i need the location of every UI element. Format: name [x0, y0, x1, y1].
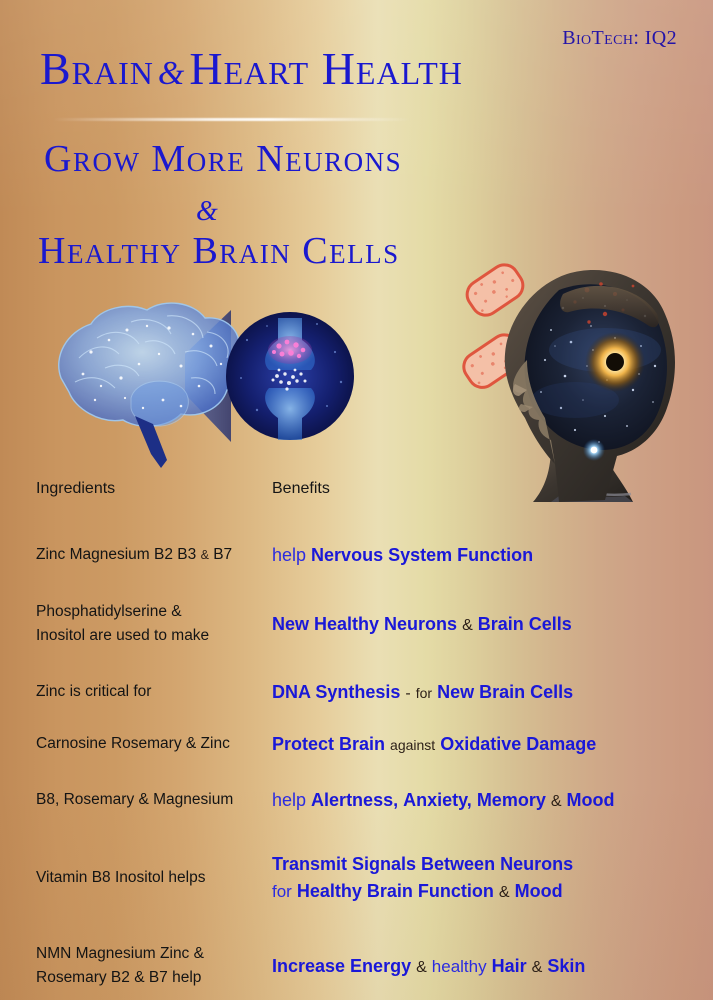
- table-row: NMN Magnesium Zinc & Rosemary B2 & B7 he…: [36, 924, 696, 1000]
- benefit-highlight-4: Mood: [567, 790, 615, 810]
- page-title-part-2: Heart Health: [189, 43, 463, 94]
- benefit-highlight-2: Oxidative Damage: [440, 734, 596, 754]
- table-row: Phosphatidylserine & Inositol are used t…: [36, 584, 696, 664]
- ingredient-cell: Zinc Magnesium B2 B3 & B7: [36, 543, 272, 567]
- page-title: Brain&Heart Health: [40, 46, 463, 92]
- benefit-highlight: New Healthy Neurons: [272, 614, 457, 634]
- benefit-ampersand: &: [416, 959, 427, 976]
- benefit-highlight: Protect Brain: [272, 734, 385, 754]
- table-header: Ingredients Benefits: [36, 480, 696, 526]
- benefit-highlight: DNA Synthesis: [272, 682, 400, 702]
- benefit-line-2: for Healthy Brain Function & Mood: [272, 878, 696, 905]
- ingredient-text-2: Rosemary B2 & B7 help: [36, 966, 272, 990]
- cosmic-head-illustration: [455, 250, 705, 512]
- benefit-connector: help: [272, 545, 306, 565]
- ingredient-text: Zinc Magnesium B2 B3: [36, 546, 196, 563]
- ingredient-cell: Phosphatidylserine & Inositol are used t…: [36, 600, 272, 648]
- benefit-highlight-3: Skin: [547, 956, 585, 976]
- table-row: Zinc is critical for DNA Synthesis - for…: [36, 664, 696, 720]
- benefit-highlight-2: New Brain Cells: [437, 682, 573, 702]
- benefit-cell: Transmit Signals Between Neurons for Hea…: [272, 851, 696, 905]
- ingredient-cell: NMN Magnesium Zinc & Rosemary B2 & B7 he…: [36, 942, 272, 990]
- ampersand: &: [201, 548, 209, 562]
- subtitle-line-2: Healthy Brain Cells: [38, 232, 400, 270]
- benefit-connector: against: [390, 737, 435, 753]
- table-row: Zinc Magnesium B2 B3 & B7 help Nervous S…: [36, 526, 696, 584]
- benefit-cell: New Healthy Neurons & Brain Cells: [272, 611, 696, 638]
- ingredient-text-2: Inositol are used to make: [36, 624, 272, 648]
- benefit-highlight: Increase Energy: [272, 956, 411, 976]
- benefit-highlight-2: Brain Cells: [478, 614, 572, 634]
- benefit-connector: for: [416, 685, 432, 701]
- benefit-highlight-2: Anxiety,: [403, 790, 472, 810]
- subtitle-line-1: Grow More Neurons: [44, 140, 402, 178]
- column-header-ingredients: Ingredients: [36, 480, 115, 498]
- benefit-highlight-2: Hair: [492, 956, 527, 976]
- benefit-cell: Increase Energy & healthy Hair & Skin: [272, 953, 696, 980]
- subtitle-ampersand: &: [196, 196, 218, 228]
- title-divider: [52, 118, 412, 121]
- benefit-cell: Protect Brain against Oxidative Damage: [272, 731, 696, 758]
- ingredient-text: Phosphatidylserine &: [36, 600, 272, 624]
- ingredient-cell: Carnosine Rosemary & Zinc: [36, 732, 272, 756]
- table-row: B8, Rosemary & Magnesium help Alertness,…: [36, 768, 696, 832]
- benefit-cell: help Alertness, Anxiety, Memory & Mood: [272, 787, 696, 814]
- benefit-connector: help: [272, 790, 306, 810]
- benefit-highlight: Nervous System Function: [311, 545, 533, 565]
- ingredient-text: NMN Magnesium Zinc &: [36, 942, 272, 966]
- ingredient-cell: Vitamin B8 Inositol helps: [36, 866, 272, 890]
- ingredient-cell: B8, Rosemary & Magnesium: [36, 788, 272, 812]
- ingredient-cell: Zinc is critical for: [36, 680, 272, 704]
- page-title-part-1: Brain: [40, 43, 154, 94]
- column-header-benefits: Benefits: [272, 480, 330, 498]
- benefit-ampersand-2: &: [532, 959, 543, 976]
- benefit-cell: help Nervous System Function: [272, 542, 696, 569]
- benefit-connector: &: [462, 617, 473, 634]
- poster-canvas: BioTech: IQ2 Brain&Heart Health Grow Mor…: [0, 0, 713, 1000]
- benefit-connector: healthy: [432, 957, 487, 976]
- brand-label: BioTech: IQ2: [562, 27, 677, 50]
- benefit-highlight-3: Memory: [477, 790, 546, 810]
- table-row: Carnosine Rosemary & Zinc Protect Brain …: [36, 720, 696, 768]
- benefit-highlight: Transmit Signals Between Neurons: [272, 851, 696, 878]
- table-row: Vitamin B8 Inositol helps Transmit Signa…: [36, 832, 696, 924]
- benefit-ampersand: &: [551, 793, 562, 810]
- ingredient-text-2: B7: [213, 546, 232, 563]
- brain-synapse-illustration: [35, 282, 355, 477]
- page-title-ampersand: &: [154, 55, 189, 92]
- benefit-cell: DNA Synthesis - for New Brain Cells: [272, 679, 696, 706]
- benefit-dash: -: [405, 685, 410, 702]
- ingredients-benefits-table: Ingredients Benefits Zinc Magnesium B2 B…: [36, 480, 696, 1000]
- benefit-highlight: Alertness,: [311, 790, 398, 810]
